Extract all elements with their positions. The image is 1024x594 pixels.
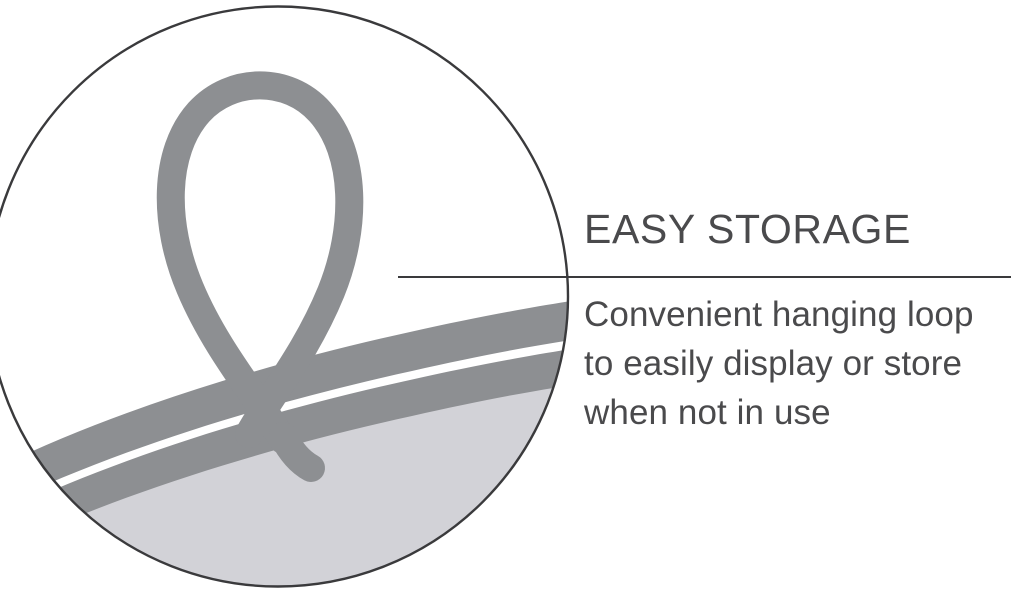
feature-title: EASY STORAGE [584, 206, 1014, 252]
feature-callout-card: EASY STORAGE Convenient hanging loop to … [0, 0, 1024, 594]
feature-description-line-3: when not in use [584, 388, 1014, 437]
feature-description-line-2: to easily display or store [584, 339, 1014, 388]
hanging-loop-illustration [0, 0, 600, 594]
feature-description: Convenient hanging loop to easily displa… [584, 290, 1014, 437]
feature-description-line-1: Convenient hanging loop [584, 290, 1014, 339]
callout-text-block: EASY STORAGE Convenient hanging loop to … [584, 206, 1014, 437]
